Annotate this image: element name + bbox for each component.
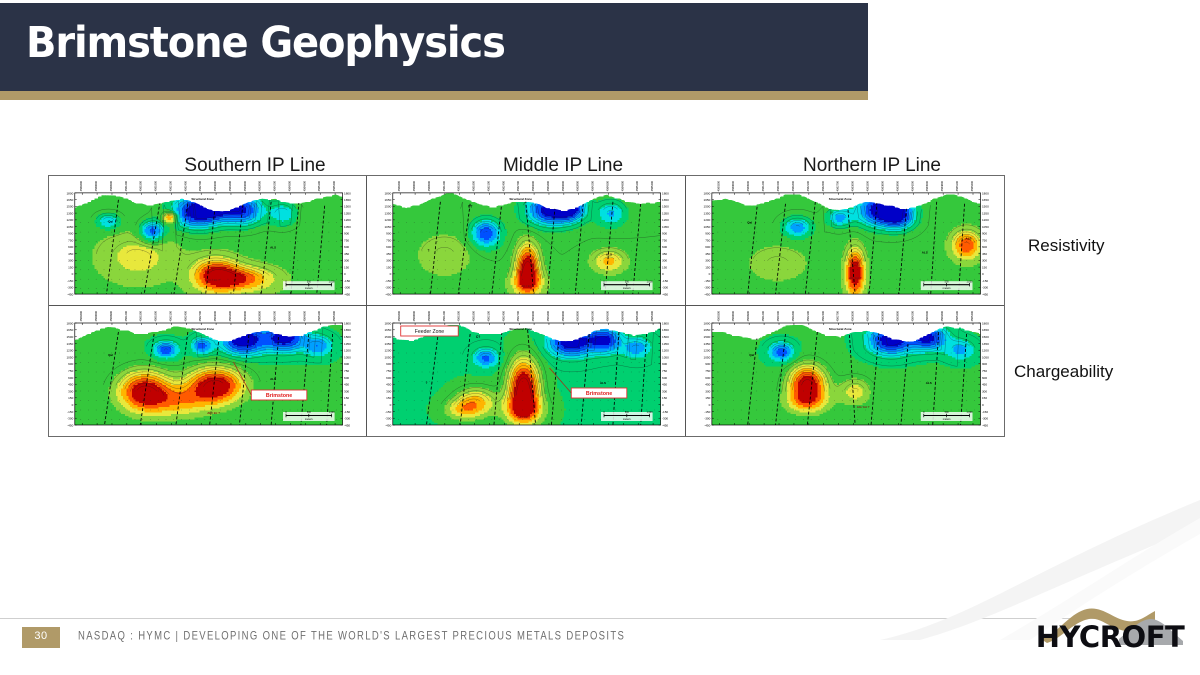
panel-svg: 1800180016501650150015001350135012001200… <box>367 306 684 436</box>
panel-chargeability-northern: 1800180016501650150015001350135012001200… <box>686 306 1004 436</box>
panel-svg: 1800180016501650150015001350135012001200… <box>367 176 684 305</box>
panel-svg: 1800180016501650150015001350135012001200… <box>49 306 366 436</box>
cross-section-grid: 1800180016501650150015001350135012001200… <box>48 175 1005 437</box>
hycroft-logo-wordmark: HYCROFT <box>1035 620 1185 654</box>
row-label-resistivity: Resistivity <box>1028 236 1105 256</box>
panel-chargeability-southern: 1800180016501650150015001350135012001200… <box>49 306 367 436</box>
page-number: 30 <box>22 630 60 642</box>
panel-svg: 1800180016501650150015001350135012001200… <box>686 306 1004 436</box>
column-title-middle: Middle IP Line <box>413 155 713 177</box>
panel-svg: 1800180016501650150015001350135012001200… <box>49 176 366 305</box>
footer-tagline: NASDAQ : HYMC | DEVELOPING ONE OF THE WO… <box>78 630 625 644</box>
page-title: Brimstone Geophysics <box>26 18 505 68</box>
panel-resistivity-northern: 1800180016501650150015001350135012001200… <box>686 176 1004 306</box>
panel-resistivity-southern: 1800180016501650150015001350135012001200… <box>49 176 367 306</box>
title-banner-accent-bar <box>0 91 868 100</box>
panel-chargeability-middle: 1800180016501650150015001350135012001200… <box>367 306 685 436</box>
row-label-chargeability: Chargeability <box>1014 362 1113 382</box>
column-title-southern: Southern IP Line <box>105 155 405 177</box>
column-title-northern: Northern IP Line <box>722 155 1022 177</box>
panel-resistivity-middle: 1800180016501650150015001350135012001200… <box>367 176 685 306</box>
panel-svg: 1800180016501650150015001350135012001200… <box>686 176 1004 305</box>
